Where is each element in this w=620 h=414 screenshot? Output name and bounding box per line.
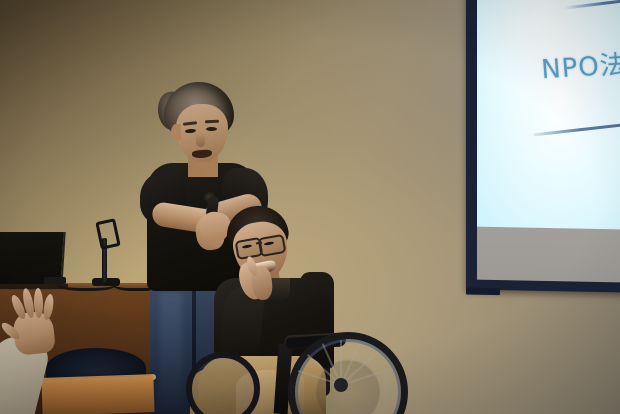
photo-scene: NPO法 xyxy=(0,0,620,414)
projection-screen-frame: NPO法 xyxy=(466,0,620,293)
projected-slide-area: NPO法 xyxy=(477,0,620,230)
wooden-chair-back xyxy=(41,376,154,414)
slide-title-text: NPO法 xyxy=(540,44,620,86)
standing-presenter-ear xyxy=(171,124,181,140)
projection-screen-surface: NPO法 xyxy=(477,0,620,283)
cable-dongle xyxy=(44,277,66,284)
standing-presenter-jeans-highlight xyxy=(160,292,182,410)
standing-presenter-eye-right xyxy=(206,127,217,131)
standing-presenter-nose xyxy=(196,133,205,147)
wheelchair-hub xyxy=(334,378,348,392)
